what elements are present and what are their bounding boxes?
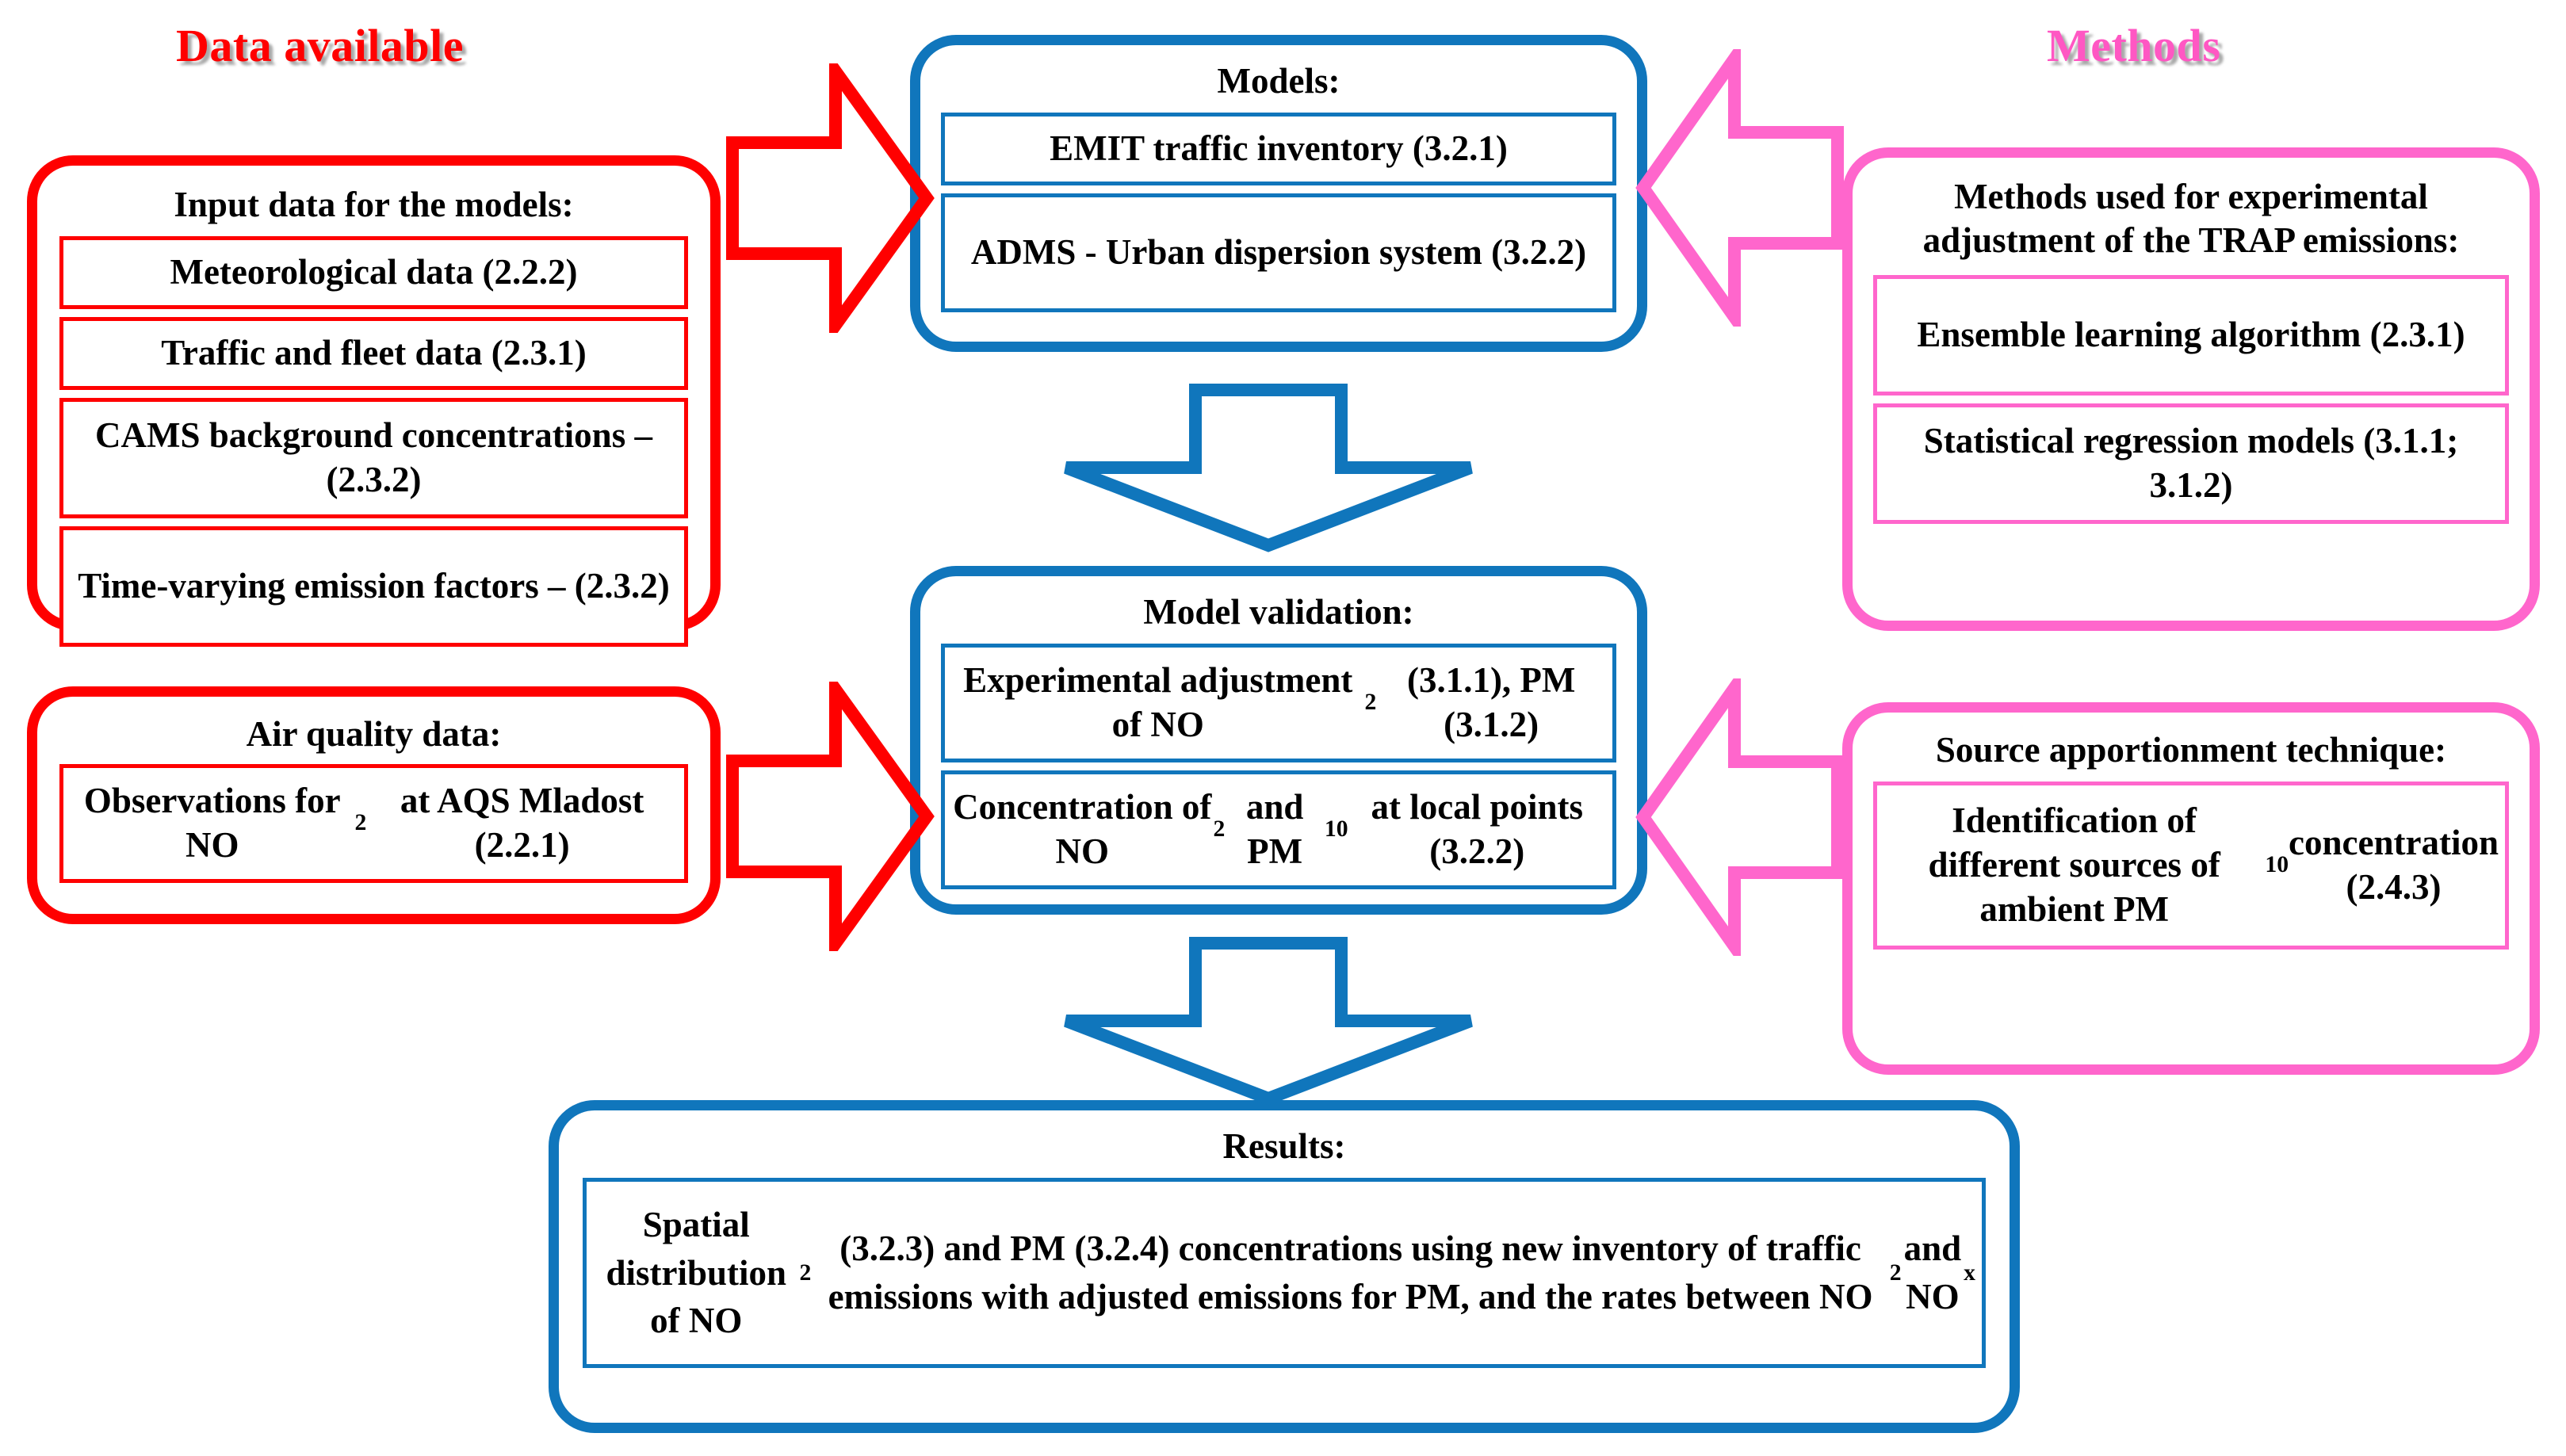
group-heading-source-apportionment: Source apportionment technique:: [1873, 728, 2509, 772]
arrow-source-to-validation-icon: [1631, 678, 1853, 956]
group-heading-trap-methods: Methods used for experimental adjustment…: [1873, 175, 2509, 262]
group-heading-air-quality: Air quality data:: [59, 713, 688, 756]
item-list-trap-methods: Ensemble learning algorithm (2.3.1) Stat…: [1873, 275, 2509, 524]
item-identification-sources-pm10: Identification of different sources of a…: [1873, 782, 2509, 950]
flowchart-canvas: Data available Methods Input data for th…: [0, 0, 2566, 1456]
arrow-input-to-models-icon: [717, 63, 939, 333]
group-input-data: Input data for the models: Meteorologica…: [27, 155, 721, 631]
group-results: Results: Spatial distribution of NO2 (3.…: [549, 1100, 2020, 1433]
group-heading-model-validation: Model validation:: [941, 590, 1616, 634]
column-title-data-available: Data available: [176, 19, 464, 72]
arrow-models-to-validation-icon: [1054, 379, 1482, 555]
item-emit-traffic-inventory: EMIT traffic inventory (3.2.1): [941, 113, 1616, 185]
item-spatial-distribution-results: Spatial distribution of NO2 (3.2.3) and …: [583, 1178, 1986, 1368]
item-list-models: EMIT traffic inventory (3.2.1) ADMS - Ur…: [941, 113, 1616, 312]
item-list-model-validation: Experimental adjustment of NO2 (3.1.1), …: [941, 644, 1616, 889]
item-list-results: Spatial distribution of NO2 (3.2.3) and …: [583, 1178, 1986, 1368]
item-experimental-adjustment: Experimental adjustment of NO2 (3.1.1), …: [941, 644, 1616, 762]
item-traffic-fleet-data: Traffic and fleet data (2.3.1): [59, 317, 688, 390]
item-statistical-regression-models: Statistical regression models (3.1.1; 3.…: [1873, 403, 2509, 524]
group-trap-methods: Methods used for experimental adjustment…: [1842, 147, 2540, 631]
group-heading-models: Models:: [941, 59, 1616, 103]
item-list-source-apportionment: Identification of different sources of a…: [1873, 782, 2509, 950]
column-title-methods: Methods: [2047, 19, 2220, 72]
item-adms-urban-dispersion: ADMS - Urban dispersion system (3.2.2): [941, 193, 1616, 312]
item-time-varying-emission: Time-varying emission factors – (2.3.2): [59, 526, 688, 647]
group-source-apportionment: Source apportionment technique: Identifi…: [1842, 702, 2540, 1075]
item-observations-aqs-mladost: Observations for NO2 at AQS Mladost (2.2…: [59, 764, 688, 883]
arrow-trap-methods-to-models-icon: [1631, 49, 1853, 327]
arrow-airquality-to-validation-icon: [717, 682, 939, 951]
item-list-input-data: Meteorological data (2.2.2) Traffic and …: [59, 236, 688, 647]
group-heading-results: Results:: [583, 1125, 1986, 1168]
item-meteorological-data: Meteorological data (2.2.2): [59, 236, 688, 309]
item-cams-background: CAMS background concentrations – (2.3.2): [59, 398, 688, 518]
group-models: Models: EMIT traffic inventory (3.2.1) A…: [910, 35, 1647, 352]
item-concentration-local-points: Concentration of NO2 and PM10 at local p…: [941, 770, 1616, 889]
arrow-validation-to-results-icon: [1054, 932, 1482, 1108]
group-heading-input-data: Input data for the models:: [59, 183, 688, 227]
group-model-validation: Model validation: Experimental adjustmen…: [910, 566, 1647, 915]
item-ensemble-learning-algorithm: Ensemble learning algorithm (2.3.1): [1873, 275, 2509, 396]
group-air-quality-data: Air quality data: Observations for NO2 a…: [27, 686, 721, 924]
item-list-air-quality: Observations for NO2 at AQS Mladost (2.2…: [59, 764, 688, 883]
